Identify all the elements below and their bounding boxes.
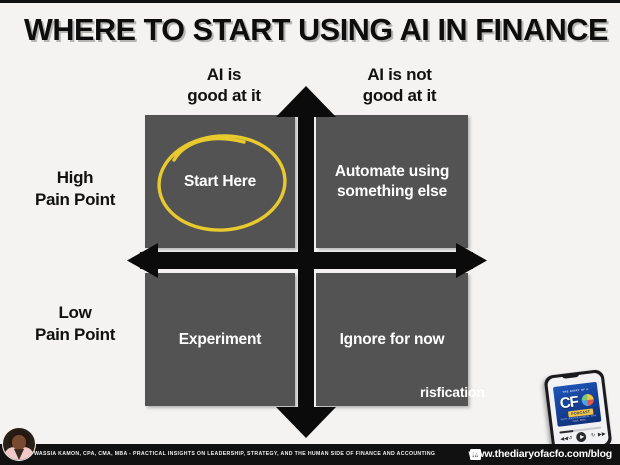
podcast-artwork: THE DIARY OF A CF PODCAST WITH WASSIA KA… [553, 382, 602, 427]
row-header-line2: Pain Point [6, 189, 144, 211]
top-divider [0, 0, 620, 3]
column-header-line1: AI is not [322, 64, 477, 85]
row-header-low-pain-point: Low Pain Point [6, 302, 144, 346]
quadrant-top-right: Automate using something else [316, 115, 468, 248]
row-header-high-pain-point: High Pain Point [6, 167, 144, 211]
footer-credit-text: © WASSIA KAMON, CPA, CMA, MBA - PRACTICA… [28, 451, 435, 457]
phone-screen: THE DIARY OF A CF PODCAST WITH WASSIA KA… [547, 372, 609, 450]
podcast-phone-mockup: THE DIARY OF A CF PODCAST WITH WASSIA KA… [543, 368, 616, 453]
row-header-line2: Pain Point [6, 324, 144, 346]
row-header-line1: Low [6, 302, 144, 324]
quadrant-bottom-left-label: Experiment [167, 330, 273, 350]
column-header-line2: good at it [150, 85, 298, 106]
slide-canvas: WHERE TO START USING AI IN FINANCE AI is… [0, 0, 620, 465]
quadrant-top-left: Start Here [145, 115, 295, 248]
quadrant-top-left-label: Start Here [172, 172, 268, 192]
column-header-ai-good: AI is good at it [150, 64, 298, 106]
column-header-line1: AI is [150, 64, 298, 85]
artwork-title: CF [559, 394, 579, 411]
quadrant-bottom-left: Experiment [145, 273, 295, 406]
artwork-subtitle: WITH WASSIA KAMON, CPA, CMA, MBA [557, 414, 601, 425]
column-header-line2: good at it [322, 85, 477, 106]
row-header-line1: High [6, 167, 144, 189]
background-ghost-text: risfication [420, 384, 485, 400]
quadrant-bottom-right-label: Ignore for now [328, 330, 457, 350]
quadrant-top-right-label: Automate using something else [316, 162, 468, 202]
fast-forward-icon[interactable]: ↻ [590, 430, 595, 440]
pie-chart-icon [581, 393, 594, 406]
column-header-ai-not-good: AI is not good at it [322, 64, 477, 106]
next-track-icon[interactable]: ▶▶ [597, 429, 606, 440]
rewind-icon[interactable]: ↺ [568, 433, 573, 443]
page-title: WHERE TO START USING AI IN FINANCE [24, 11, 604, 49]
footer-website-url[interactable]: www.thediaryofacfo.com/blog [468, 448, 612, 460]
play-button-icon[interactable] [576, 431, 587, 442]
avatar-face [12, 435, 26, 450]
author-avatar [2, 427, 36, 461]
axis-arrows [0, 0, 620, 465]
